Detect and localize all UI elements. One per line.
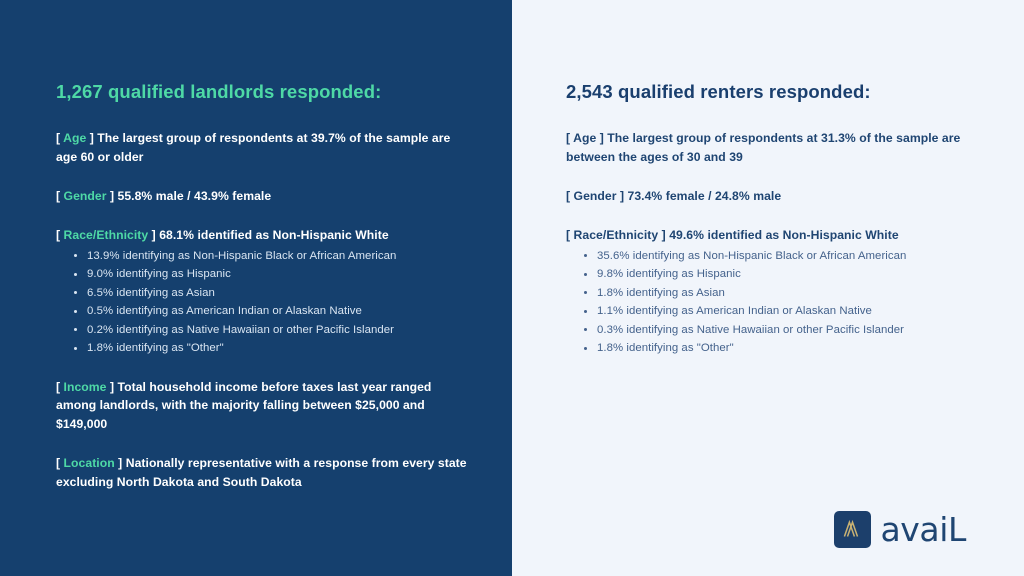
avail-logo-mark: [834, 511, 871, 548]
avail-logo: avaiL: [834, 511, 966, 548]
stat-category-label: Age: [573, 131, 596, 145]
list-item: 0.5% identifying as American Indian or A…: [74, 302, 472, 320]
stat-line: [ Income ] Total household income before…: [56, 378, 472, 435]
bracket-open: [: [56, 189, 64, 203]
list-item: 13.9% identifying as Non-Hispanic Black …: [74, 247, 472, 265]
list-item: 0.3% identifying as Native Hawaiian or o…: [584, 321, 984, 339]
landlords-stat-list: [ Age ] The largest group of respondents…: [56, 129, 472, 492]
list-item: 0.2% identifying as Native Hawaiian or o…: [74, 321, 472, 339]
stat-description: The largest group of respondents at 39.7…: [56, 131, 450, 164]
bracket-close: ]: [107, 189, 118, 203]
bracket-open: [: [56, 456, 64, 470]
stat-description: 73.4% female / 24.8% male: [628, 189, 782, 203]
stat-bullet-list: 35.6% identifying as Non-Hispanic Black …: [566, 247, 984, 358]
renters-panel: 2,543 qualified renters responded: [ Age…: [512, 0, 1024, 576]
bracket-close: ]: [148, 228, 159, 242]
stat-category-label: Income: [64, 380, 107, 394]
list-item: 35.6% identifying as Non-Hispanic Black …: [584, 247, 984, 265]
landlords-headline: 1,267 qualified landlords responded:: [56, 80, 472, 103]
bracket-open: [: [56, 228, 64, 242]
survey-demographics-slide: 1,267 qualified landlords responded: [ A…: [0, 0, 1024, 576]
stat-category-label: Age: [63, 131, 86, 145]
renters-stat-list: [ Age ] The largest group of respondents…: [566, 129, 984, 357]
stat-block-age: [ Age ] The largest group of respondents…: [566, 129, 984, 167]
stat-bullet-list: 13.9% identifying as Non-Hispanic Black …: [56, 247, 472, 358]
bracket-open: [: [56, 380, 64, 394]
stat-description: 55.8% male / 43.9% female: [118, 189, 272, 203]
stat-category-label: Location: [64, 456, 115, 470]
stat-line: [ Race/Ethnicity ] 68.1% identified as N…: [56, 226, 472, 245]
stat-category-label: Gender: [574, 189, 617, 203]
bracket-close: ]: [115, 456, 126, 470]
stat-block-gender: [ Gender ] 55.8% male / 43.9% female: [56, 187, 472, 206]
stat-description: 68.1% identified as Non-Hispanic White: [159, 228, 388, 242]
list-item: 6.5% identifying as Asian: [74, 284, 472, 302]
stat-block-gender: [ Gender ] 73.4% female / 24.8% male: [566, 187, 984, 206]
stat-block-race-ethnicity: [ Race/Ethnicity ] 68.1% identified as N…: [56, 226, 472, 358]
stat-block-race-ethnicity: [ Race/Ethnicity ] 49.6% identified as N…: [566, 226, 984, 358]
bracket-close: ]: [107, 380, 118, 394]
stat-line: [ Gender ] 73.4% female / 24.8% male: [566, 187, 984, 206]
bracket-open: [: [566, 228, 574, 242]
stat-line: [ Age ] The largest group of respondents…: [566, 129, 984, 167]
list-item: 9.8% identifying as Hispanic: [584, 265, 984, 283]
list-item: 1.8% identifying as "Other": [584, 339, 984, 357]
stat-description: The largest group of respondents at 31.3…: [566, 131, 960, 164]
stat-block-income: [ Income ] Total household income before…: [56, 378, 472, 435]
stat-description: 49.6% identified as Non-Hispanic White: [669, 228, 898, 242]
stat-category-label: Race/Ethnicity: [574, 228, 659, 242]
stat-category-label: Race/Ethnicity: [64, 228, 149, 242]
bracket-close: ]: [596, 131, 607, 145]
bracket-open: [: [566, 189, 574, 203]
landlords-panel: 1,267 qualified landlords responded: [ A…: [0, 0, 512, 576]
stat-category-label: Gender: [64, 189, 107, 203]
renters-headline: 2,543 qualified renters responded:: [566, 80, 984, 103]
stat-line: [ Age ] The largest group of respondents…: [56, 129, 472, 167]
bracket-close: ]: [658, 228, 669, 242]
list-item: 1.8% identifying as Asian: [584, 284, 984, 302]
stat-line: [ Race/Ethnicity ] 49.6% identified as N…: [566, 226, 984, 245]
avail-wordmark: avaiL: [880, 513, 966, 546]
stat-block-location: [ Location ] Nationally representative w…: [56, 454, 472, 492]
stat-line: [ Location ] Nationally representative w…: [56, 454, 472, 492]
stat-line: [ Gender ] 55.8% male / 43.9% female: [56, 187, 472, 206]
stat-block-age: [ Age ] The largest group of respondents…: [56, 129, 472, 167]
bracket-close: ]: [86, 131, 97, 145]
list-item: 1.1% identifying as American Indian or A…: [584, 302, 984, 320]
list-item: 9.0% identifying as Hispanic: [74, 265, 472, 283]
bracket-close: ]: [617, 189, 628, 203]
list-item: 1.8% identifying as "Other": [74, 339, 472, 357]
